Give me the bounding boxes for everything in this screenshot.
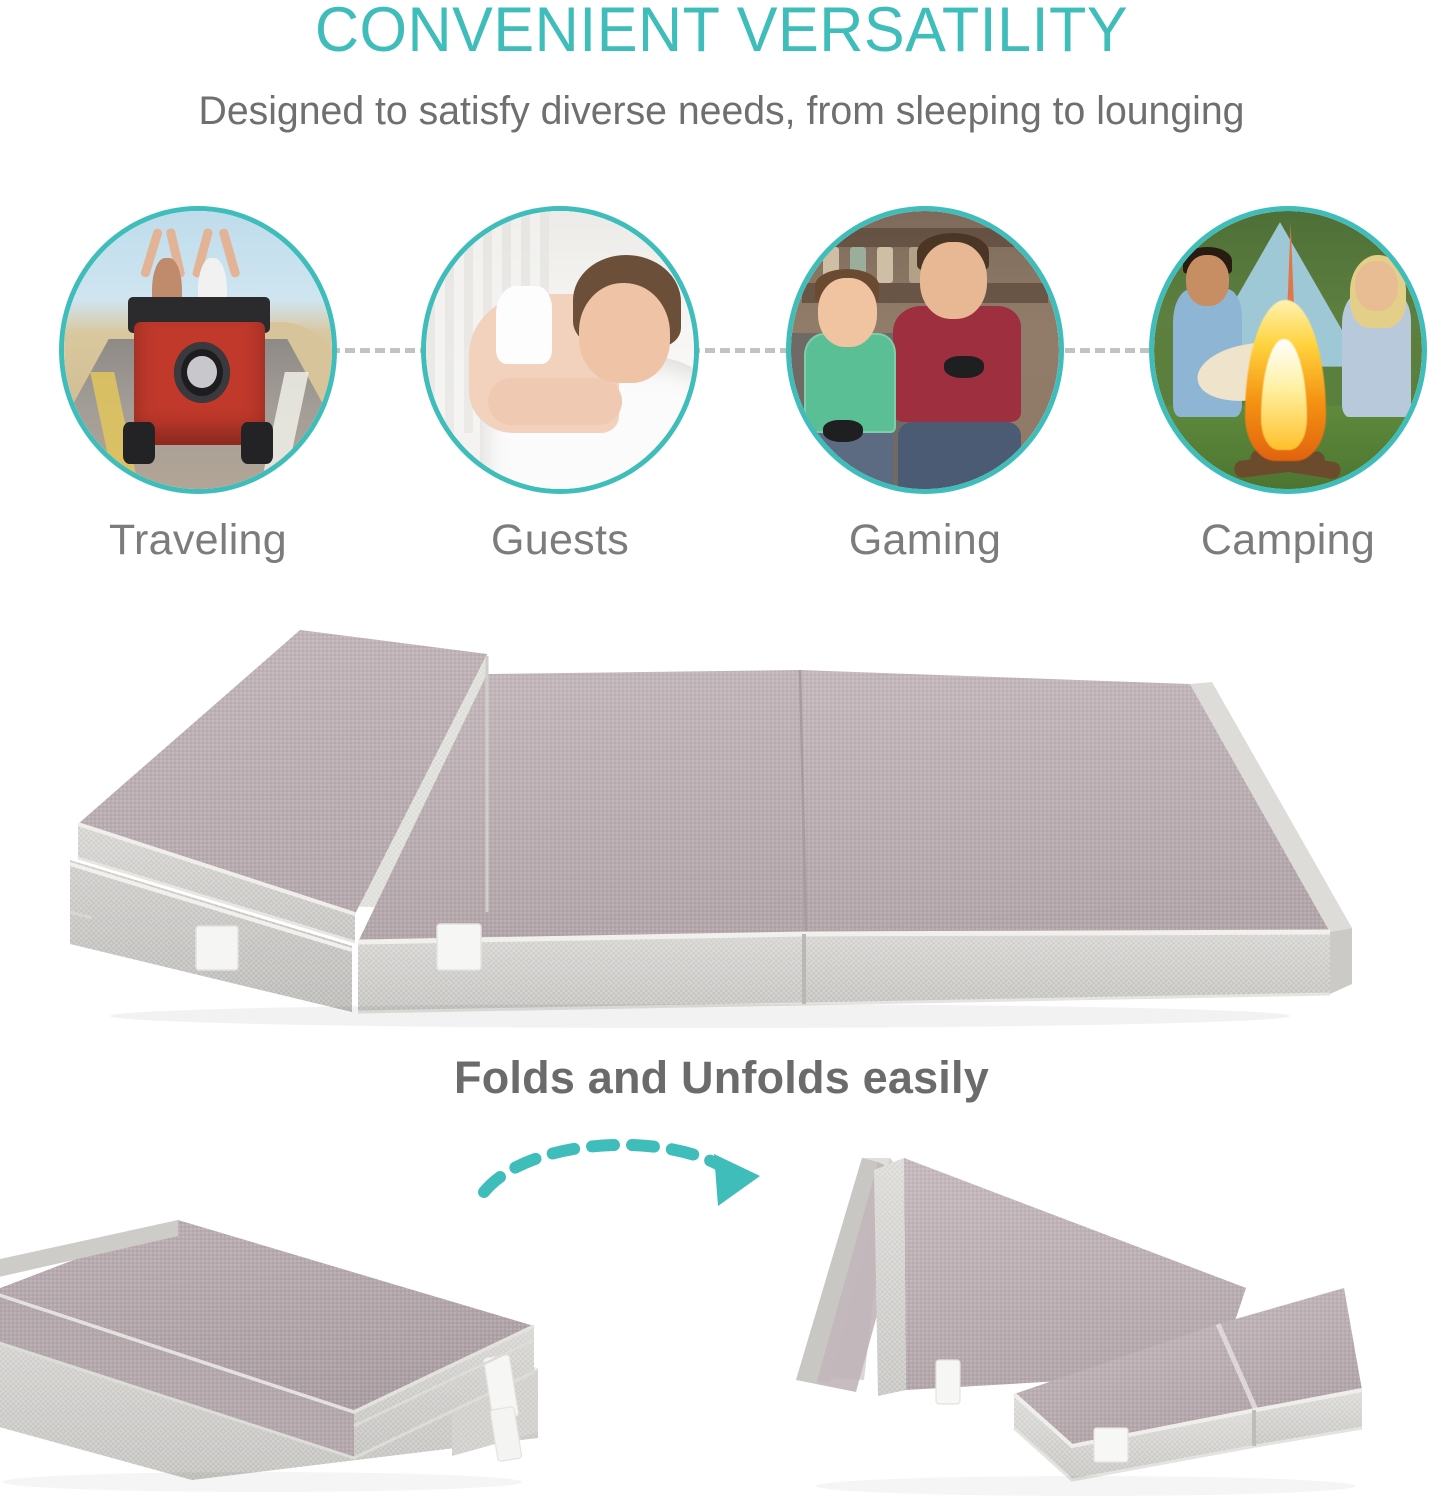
usecase-image-guests (421, 206, 699, 494)
handle-tab (1094, 1428, 1128, 1462)
usecase-item-guests[interactable]: Guests (420, 206, 700, 565)
usecase-label-guests: Guests (420, 516, 700, 565)
fold-caption: Folds and Unfolds easily (0, 1052, 1443, 1104)
tented-fold-product-image (786, 1128, 1366, 1500)
folded-stack-product-image (0, 1180, 562, 1500)
handle-tab (437, 924, 481, 970)
jeep-road-trip-icon (64, 211, 332, 489)
usecase-image-gaming (786, 206, 1064, 494)
usecase-label-traveling: Traveling (58, 516, 338, 565)
page-title: CONVENIENT VERSATILITY (22, 0, 1422, 64)
video-game-players-icon (791, 211, 1059, 489)
campfire-tent-icon (1154, 211, 1422, 489)
usecase-item-camping[interactable]: Camping (1148, 206, 1428, 565)
hero-product-image (0, 612, 1443, 1032)
infographic-page: CONVENIENT VERSATILITY Designed to satis… (0, 0, 1443, 1500)
usecase-label-gaming: Gaming (785, 516, 1065, 565)
usecase-row: Traveling Guests (0, 206, 1443, 596)
handle-tab (196, 926, 238, 970)
usecase-item-traveling[interactable]: Traveling (58, 206, 338, 565)
usecase-image-camping (1149, 206, 1427, 494)
page-subtitle: Designed to satisfy diverse needs, from … (14, 88, 1428, 134)
usecase-label-camping: Camping (1148, 516, 1428, 565)
handle-tab (936, 1360, 960, 1404)
usecase-item-gaming[interactable]: Gaming (785, 206, 1065, 565)
woman-sleeping-icon (426, 211, 694, 489)
usecase-image-traveling (59, 206, 337, 494)
